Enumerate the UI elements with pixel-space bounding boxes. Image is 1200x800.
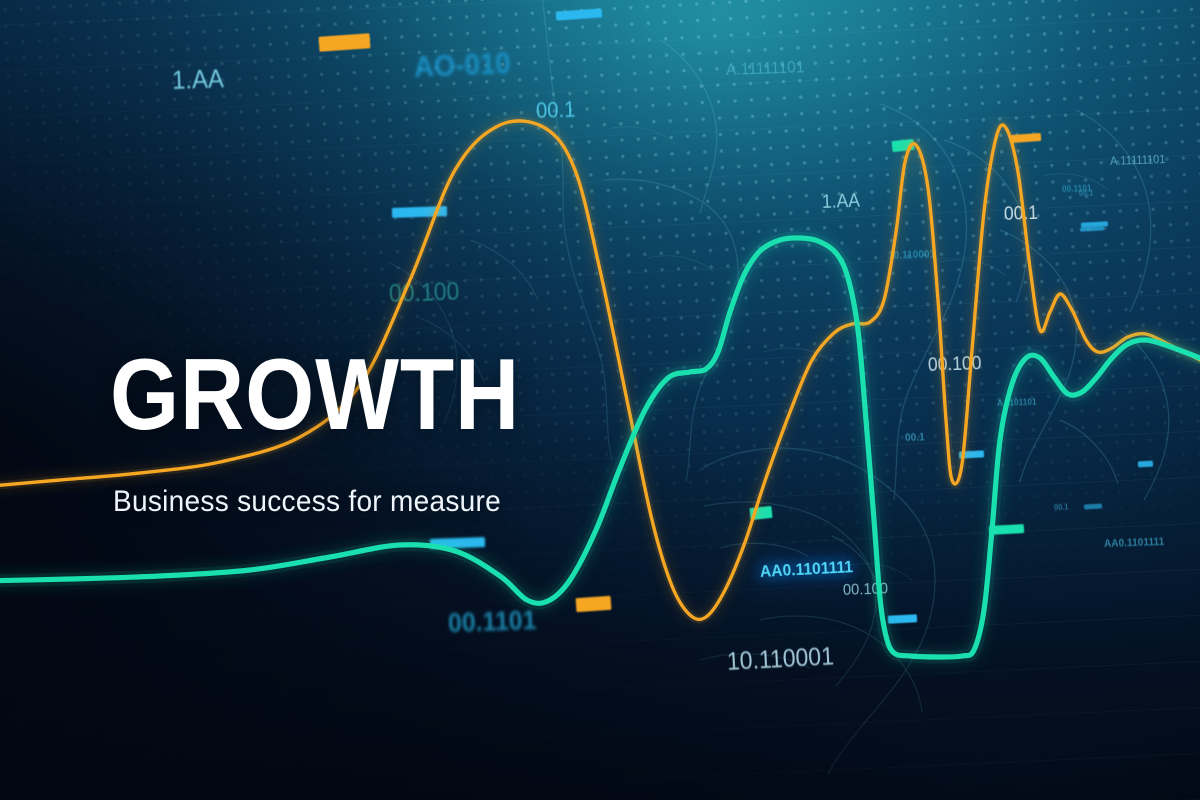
page-title: GROWTH xyxy=(110,345,520,446)
poster-canvas: 1.AAAO-01000.1A.1111110100.1001.AA10.110… xyxy=(0,0,1200,800)
page-subtitle: Business success for measure xyxy=(113,487,501,517)
